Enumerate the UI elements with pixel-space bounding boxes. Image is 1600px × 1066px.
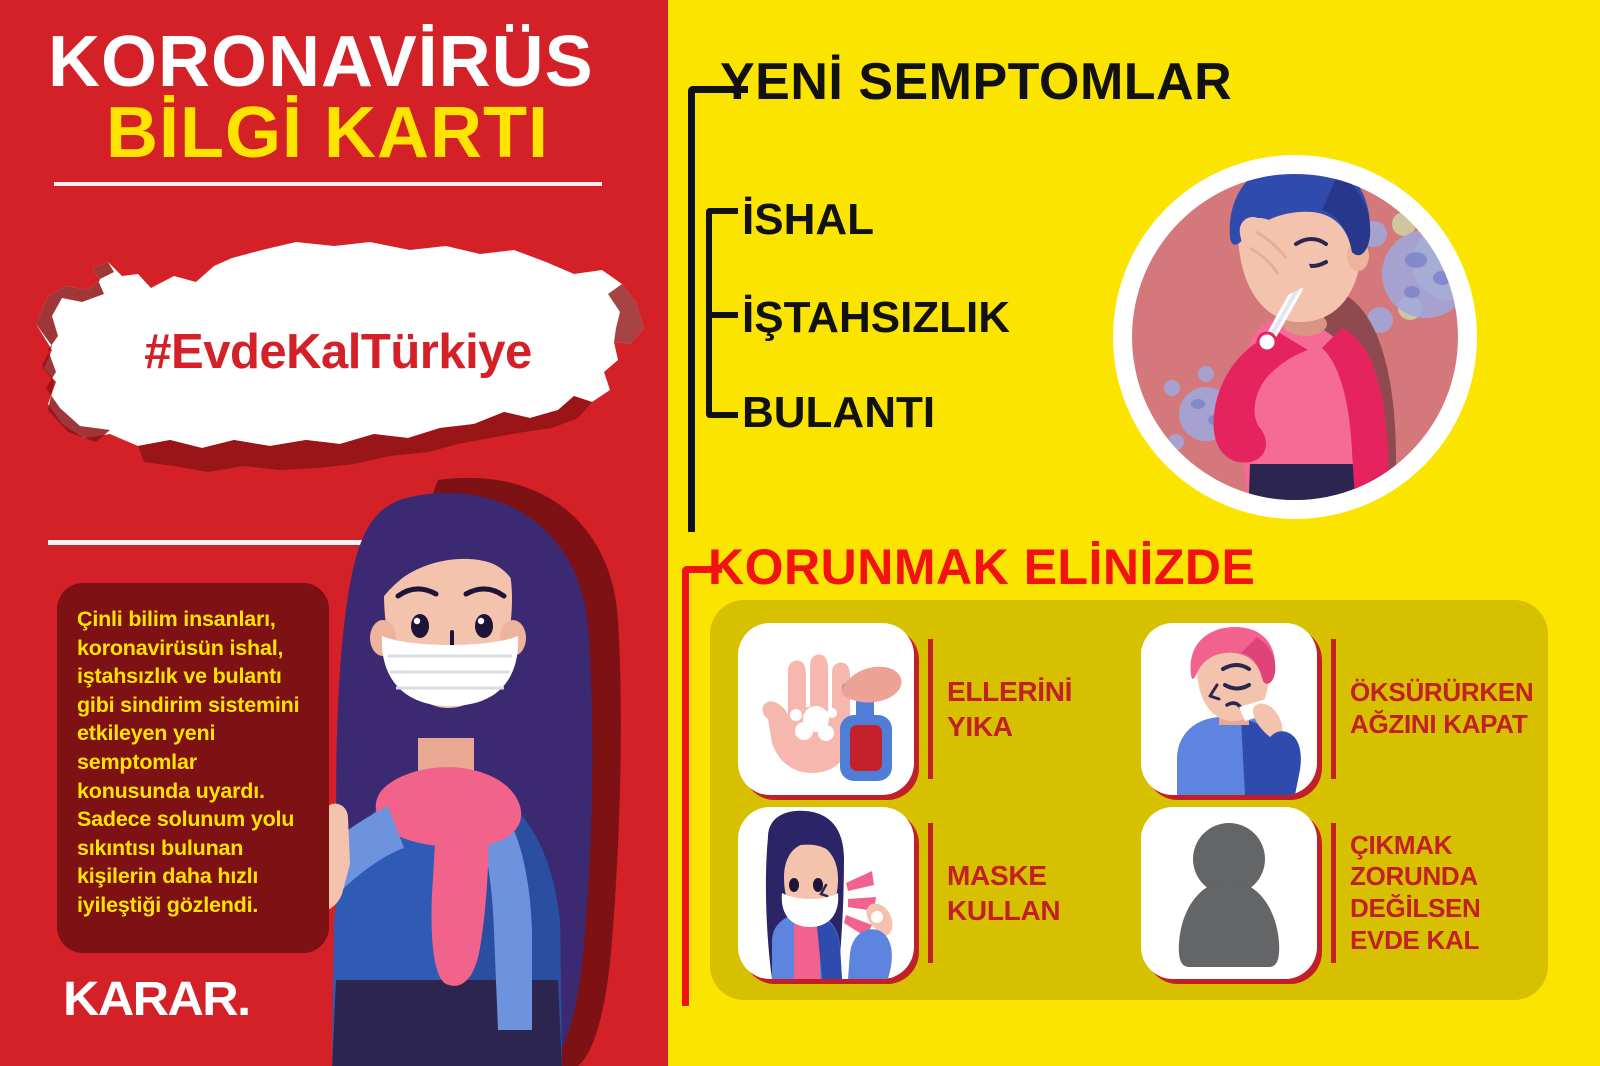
prevention-label-2: MASKEKULLAN: [947, 858, 1060, 929]
symptom-item-1: İŞTAHSIZLIK: [742, 293, 1010, 343]
eye-right: [813, 878, 823, 892]
prevention-item-cover-mouth[interactable]: ÖKSÜRÜRKENAĞZINI KAPAT: [1141, 620, 1534, 798]
info-note-card: Çinli bilim insanları, koronavirüsün ish…: [57, 583, 329, 953]
eye-right-glint: [478, 618, 484, 624]
title-divider: [54, 182, 602, 186]
sleeve: [848, 929, 892, 979]
karar-logo: KARAR.: [63, 972, 250, 1027]
speech-marks: [844, 871, 876, 937]
thermometer-bulb: [1258, 333, 1276, 351]
card-shell: [1141, 623, 1317, 795]
symptoms-bracket-tick: [706, 312, 738, 318]
hand-sanitizer-graphic: [738, 623, 914, 795]
eye-left-glint: [414, 618, 420, 624]
infographic-poster: KORONAVİRÜS BİLGİ KARTI #EvdeKalTürkiye: [0, 0, 1600, 1066]
prevention-item-use-mask[interactable]: MASKEKULLAN: [738, 804, 1131, 982]
title-block: KORONAVİRÜS BİLGİ KARTI: [48, 28, 628, 169]
coughing-person-graphic: [1141, 623, 1317, 795]
card-shell: [1141, 807, 1317, 979]
sick-person-illustration: [1090, 152, 1500, 522]
prevention-label-3: ÇIKMAKZORUNDADEĞİLSENEVDE KAL: [1350, 830, 1481, 957]
protect-heading: KORUNMAK ELİNİZDE: [708, 538, 1255, 596]
eye-left: [411, 614, 429, 638]
eye-left: [789, 878, 799, 892]
card-divider: [1331, 823, 1336, 963]
ok-hole: [871, 911, 883, 923]
card-shell: [738, 623, 914, 795]
hashtag-label: #EvdeKalTürkiye: [18, 324, 658, 380]
info-note-text: Çinli bilim insanları, koronavirüsün ish…: [77, 605, 311, 920]
card-divider: [1331, 639, 1336, 779]
bottle-label: [850, 725, 882, 771]
pressing-hand: [842, 667, 902, 703]
page-title-line2: BİLGİ KARTI: [48, 97, 628, 169]
coughing-person-icon: [1141, 623, 1317, 795]
symptom-item-0: İSHAL: [742, 195, 874, 245]
turkey-map: #EvdeKalTürkiye: [18, 232, 658, 482]
masked-girl-icon: [738, 807, 914, 979]
eye-right: [475, 614, 493, 638]
prevention-item-wash-hands[interactable]: ELLERİNİYIKA: [738, 620, 1131, 798]
prevention-label-1: ÖKSÜRÜRKENAĞZINI KAPAT: [1350, 677, 1533, 740]
sick-person-figure: [1090, 152, 1500, 522]
prevention-item-stay-home[interactable]: ÇIKMAKZORUNDADEĞİLSENEVDE KAL: [1141, 804, 1534, 982]
person-silhouette-icon: [1141, 807, 1317, 979]
card-divider: [928, 823, 933, 963]
page-title-line1: KORONAVİRÜS: [48, 28, 628, 97]
person-silhouette-graphic: [1141, 807, 1317, 979]
card-shell: [738, 807, 914, 979]
card-divider: [928, 639, 933, 779]
left-panel: KORONAVİRÜS BİLGİ KARTI #EvdeKalTürkiye: [0, 0, 668, 1066]
symptoms-heading: YENİ SEMPTOMLAR: [720, 52, 1232, 112]
prevention-label-0: ELLERİNİYIKA: [947, 674, 1072, 745]
prevention-grid: ELLERİNİYIKA: [710, 600, 1548, 1000]
sleeve: [1265, 731, 1301, 795]
silhouette-body: [1179, 881, 1279, 967]
masked-girl-graphic: [738, 807, 914, 979]
symptom-item-2: BULANTI: [742, 388, 935, 438]
prevention-panel: ELLERİNİYIKA: [710, 600, 1548, 1000]
hand-sanitizer-icon: [738, 623, 914, 795]
